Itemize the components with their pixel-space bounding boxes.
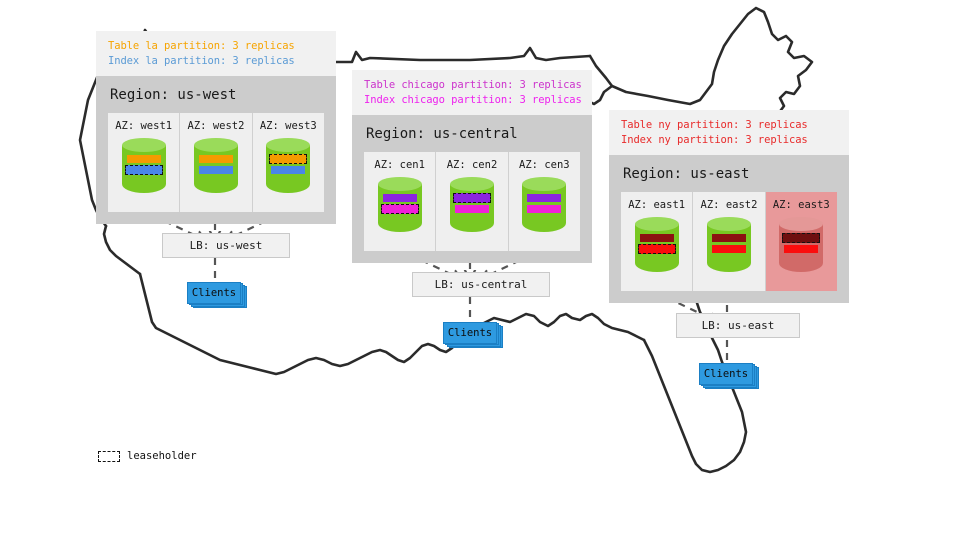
replica-bar-table [127,155,161,163]
load-balancer-us-central[interactable]: LB: us-central [412,272,550,297]
region-panel-us-west: Table la partition: 3 replicas Index la … [96,31,336,224]
clients-stack-us-central[interactable]: Clients [443,322,503,348]
clients-label: Clients [192,287,236,299]
replica-bar-index [199,166,233,174]
partition-label-table-chicago: Table chicago partition: 3 replicas [364,78,580,93]
az-label-west2: AZ: west2 [188,120,245,132]
diagram-canvas: Table la partition: 3 replicas Index la … [0,0,960,540]
az-card-east2[interactable]: AZ: east2 [693,192,765,291]
az-label-west3: AZ: west3 [260,120,317,132]
region-panel-us-central: Table chicago partition: 3 replicas Inde… [352,70,592,263]
replica-bars [784,234,818,256]
load-balancer-us-east[interactable]: LB: us-east [676,313,800,338]
replica-bars [455,194,489,216]
clients-sheet-front[interactable]: Clients [699,363,753,385]
az-card-cen1[interactable]: AZ: cen1 [364,152,436,251]
node-cylinder-east3-failed[interactable] [779,217,823,279]
region-title-us-west: Region: us-west [108,76,324,113]
replica-bars [271,155,305,177]
replica-bar-index [527,205,561,213]
az-card-west3[interactable]: AZ: west3 [253,113,324,212]
az-card-east1[interactable]: AZ: east1 [621,192,693,291]
region-body-us-central: Region: us-central AZ: cen1 AZ: cen2 [352,115,592,263]
az-card-cen3[interactable]: AZ: cen3 [509,152,580,251]
replica-bar-index [784,245,818,253]
replica-bar-index [455,205,489,213]
replica-bars [527,194,561,216]
replica-bars [712,234,746,256]
region-body-us-east: Region: us-east AZ: east1 AZ: east2 [609,155,849,303]
replica-bar-table [527,194,561,202]
replica-bar-index [712,245,746,253]
region-body-us-west: Region: us-west AZ: west1 AZ: west2 [96,76,336,224]
az-label-cen2: AZ: cen2 [447,159,498,171]
region-title-us-central: Region: us-central [364,115,580,152]
node-cylinder-east1[interactable] [635,217,679,279]
az-card-east3-failed[interactable]: AZ: east3 [766,192,837,291]
replica-bar-index-leaseholder [125,165,163,175]
replica-bar-table [640,234,674,242]
clients-label: Clients [704,368,748,380]
partition-label-table-ny: Table ny partition: 3 replicas [621,118,837,133]
replica-bar-table [383,194,417,202]
legend-label: leaseholder [127,450,197,462]
region-panel-us-east: Table ny partition: 3 replicas Index ny … [609,110,849,303]
node-cylinder-east2[interactable] [707,217,751,279]
node-cylinder-cen1[interactable] [378,177,422,239]
partition-header-us-west: Table la partition: 3 replicas Index la … [96,31,336,76]
az-label-west1: AZ: west1 [115,120,172,132]
az-row-us-central: AZ: cen1 AZ: cen2 [364,152,580,251]
az-card-west1[interactable]: AZ: west1 [108,113,180,212]
replica-bars [199,155,233,177]
partition-label-table-la: Table la partition: 3 replicas [108,39,324,54]
replica-bar-index [271,166,305,174]
replica-bar-table-leaseholder [269,154,307,164]
replica-bars [127,155,161,177]
clients-stack-us-east[interactable]: Clients [699,363,759,389]
region-title-us-east: Region: us-east [621,155,837,192]
az-row-us-east: AZ: east1 AZ: east2 [621,192,837,291]
partition-header-us-central: Table chicago partition: 3 replicas Inde… [352,70,592,115]
az-label-east1: AZ: east1 [628,199,685,211]
az-card-cen2[interactable]: AZ: cen2 [436,152,508,251]
az-card-west2[interactable]: AZ: west2 [180,113,252,212]
clients-label: Clients [448,327,492,339]
partition-label-index-ny: Index ny partition: 3 replicas [621,133,837,148]
replica-bar-table-leaseholder [453,193,491,203]
replica-bar-table [712,234,746,242]
az-label-east2: AZ: east2 [701,199,758,211]
clients-stack-us-west[interactable]: Clients [187,282,247,308]
legend: leaseholder [98,450,197,462]
partition-label-index-la: Index la partition: 3 replicas [108,54,324,69]
leaseholder-dashed-icon [98,451,120,462]
replica-bar-index-leaseholder [638,244,676,254]
az-label-east3: AZ: east3 [773,199,830,211]
node-cylinder-west3[interactable] [266,138,310,200]
replica-bars [640,234,674,256]
clients-sheet-front[interactable]: Clients [187,282,241,304]
replica-bar-index-leaseholder [381,204,419,214]
node-cylinder-west1[interactable] [122,138,166,200]
partition-header-us-east: Table ny partition: 3 replicas Index ny … [609,110,849,155]
partition-label-index-chicago: Index chicago partition: 3 replicas [364,93,580,108]
replica-bar-table-leaseholder [782,233,820,243]
node-cylinder-cen2[interactable] [450,177,494,239]
az-label-cen3: AZ: cen3 [519,159,570,171]
load-balancer-us-west[interactable]: LB: us-west [162,233,290,258]
node-cylinder-west2[interactable] [194,138,238,200]
node-cylinder-cen3[interactable] [522,177,566,239]
az-label-cen1: AZ: cen1 [374,159,425,171]
replica-bar-table [199,155,233,163]
replica-bars [383,194,417,216]
az-row-us-west: AZ: west1 AZ: west2 [108,113,324,212]
clients-sheet-front[interactable]: Clients [443,322,497,344]
